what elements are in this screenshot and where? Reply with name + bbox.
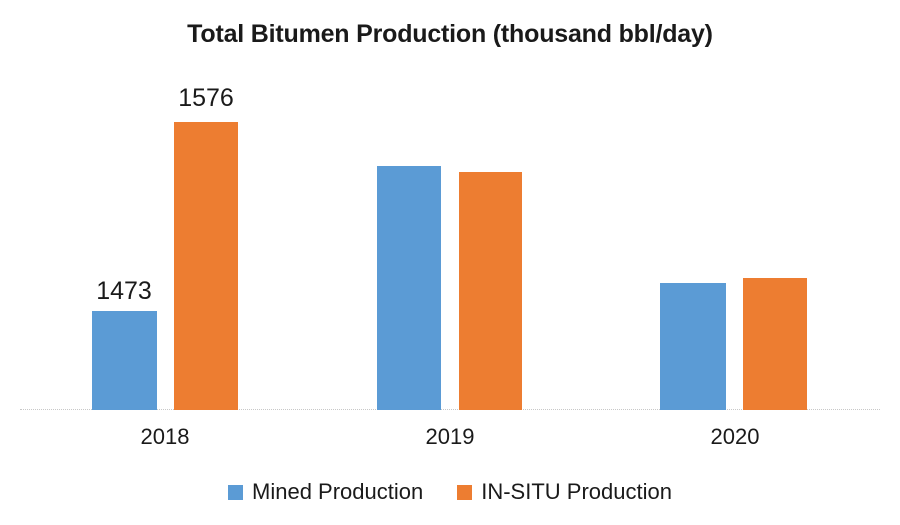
legend-item-mined-production[interactable]: Mined Production xyxy=(228,481,423,503)
legend-swatch-icon-mined xyxy=(228,485,243,500)
legend-item-insitu-production[interactable]: IN-SITU Production xyxy=(457,481,672,503)
bar-mined-2019[interactable] xyxy=(377,166,441,410)
legend-swatch-icon-insitu xyxy=(457,485,472,500)
bar-group-2018 xyxy=(92,1,238,410)
data-label-insitu-2018: 1576 xyxy=(178,84,234,113)
legend-label-insitu-production: IN-SITU Production xyxy=(481,481,672,503)
legend-label-mined-production: Mined Production xyxy=(252,481,423,503)
bar-group-2019 xyxy=(377,1,522,410)
x-axis-label-2019: 2019 xyxy=(426,424,475,450)
bar-mined-2020[interactable] xyxy=(660,283,726,410)
x-axis-label-2020: 2020 xyxy=(711,424,760,450)
plot-area: 1473 1576 2018 2019 2020 xyxy=(0,0,900,410)
bar-insitu-2018[interactable] xyxy=(174,122,238,410)
data-label-mined-2018: 1473 xyxy=(96,277,152,306)
bar-chart: Total Bitumen Production (thousand bbl/d… xyxy=(0,0,900,525)
bar-insitu-2020[interactable] xyxy=(743,278,807,410)
bar-mined-2018[interactable] xyxy=(92,311,157,410)
chart-legend: Mined Production IN-SITU Production xyxy=(0,481,900,503)
x-axis-label-2018: 2018 xyxy=(141,424,190,450)
bar-group-2020 xyxy=(660,1,807,410)
bar-insitu-2019[interactable] xyxy=(459,172,522,410)
